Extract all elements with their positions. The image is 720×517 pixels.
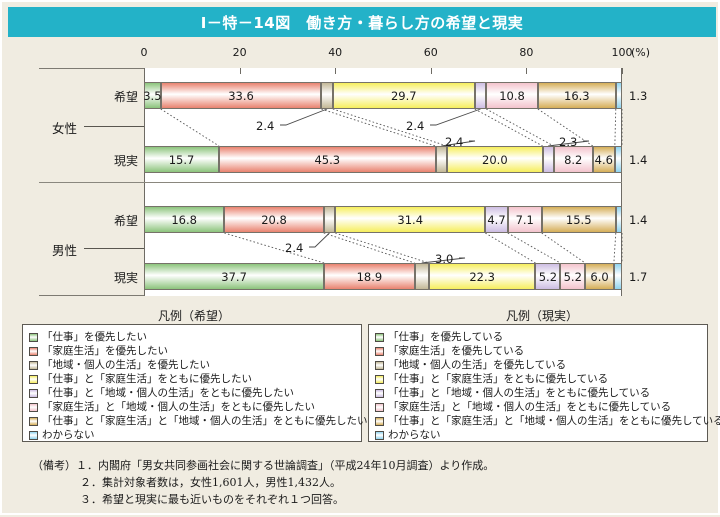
bar-group-label: 女性 <box>52 118 77 137</box>
legend-genjitsu-item[interactable]: わからない <box>375 429 701 443</box>
legend-swatch-icon <box>375 375 384 384</box>
bar-segment: 18.9 <box>324 263 414 290</box>
bar-segment-callout: 2.4 <box>285 241 303 255</box>
bar-segment: 6.0 <box>585 263 614 290</box>
bar-segment: 29.7 <box>333 82 475 109</box>
bar-segment: 4.6 <box>593 146 615 173</box>
legend-kibou-item[interactable]: わからない <box>29 429 355 443</box>
bar-segment: 16.3 <box>538 82 616 109</box>
x-axis-tick-label: 100 <box>612 46 633 59</box>
footnotes: （備考）１．内閣府「男女共同参画社会に関する世論調査」（平成24年10月調査）よ… <box>32 457 702 508</box>
legend-swatch-icon <box>29 347 38 356</box>
bar-segment: 10.8 <box>486 82 538 109</box>
bar-group-leader <box>84 248 144 249</box>
legend-swatch-icon <box>375 389 384 398</box>
legend-swatch-icon <box>375 403 384 412</box>
bar-segment: 33.6 <box>161 82 322 109</box>
legend-swatch-icon <box>29 431 38 440</box>
legend-kibou-label: 「家庭生活」を優先したい <box>42 346 168 357</box>
figure-title-bar: Ⅰ－特－14図 働き方・暮らし方の希望と現実 <box>8 7 716 37</box>
bar-segment-value: 15.5 <box>566 213 592 227</box>
footnote-line: ２．集計対象者数は，女性1,601人，男性1,432人。 <box>32 474 702 491</box>
bar-segment-value-outside: 1.4 <box>629 153 647 167</box>
x-axis-tick <box>526 68 527 74</box>
bar-segment: 22.3 <box>429 263 536 290</box>
legend-kibou-title: 凡例（希望） <box>39 307 349 324</box>
legend-swatch-icon <box>375 431 384 440</box>
legend-swatch-icon <box>375 417 384 426</box>
stacked-bar-row: 37.718.922.35.25.26.0 <box>144 263 622 290</box>
legend-genjitsu-label: わからない <box>388 430 441 441</box>
bar-segment-callout: 2.4 <box>406 119 424 133</box>
bar-segment-value: 15.7 <box>169 153 195 167</box>
legend-genjitsu-item[interactable]: 「仕事」と「地域・個人の生活」をともに優先している <box>375 386 701 400</box>
legend-kibou-item[interactable]: 「家庭生活」を優先したい <box>29 344 355 358</box>
bar-segment-value: 45.3 <box>314 153 340 167</box>
bar-row-label: 希望 <box>90 212 138 229</box>
bar-segment: 8.2 <box>554 146 593 173</box>
legend-kibou-label: 「地域・個人の生活」を優先したい <box>42 360 210 371</box>
x-axis-tick-label: 80 <box>519 46 533 59</box>
legend-swatch-icon <box>29 417 38 426</box>
legend-kibou-label: 「仕事」と「家庭生活」をともに優先したい <box>42 374 252 385</box>
x-axis-tick <box>622 68 623 74</box>
bar-segment: 15.7 <box>144 146 219 173</box>
bar-segment: 31.4 <box>335 206 485 233</box>
bar-segment-value: 5.2 <box>539 270 557 284</box>
bar-segment <box>415 263 429 290</box>
bar-segment: 20.0 <box>447 146 543 173</box>
bar-segment: 20.8 <box>224 206 323 233</box>
bar-segment <box>543 146 554 173</box>
x-axis-tick-label: 60 <box>424 46 438 59</box>
bar-segment <box>614 263 622 290</box>
bar-segment-value: 16.8 <box>171 213 197 227</box>
bar-segment <box>324 206 335 233</box>
legend-genjitsu-label: 「仕事」と「家庭生活」と「地域・個人の生活」をともに優先している <box>388 416 720 427</box>
legend-genjitsu-label: 「家庭生活」を優先している <box>388 346 524 357</box>
bar-segment <box>616 82 622 109</box>
bar-segment-value: 16.3 <box>564 89 590 103</box>
bar-segment-value: 7.1 <box>516 213 534 227</box>
bar-segment: 15.5 <box>542 206 616 233</box>
legend-kibou-item[interactable]: 「仕事」と「地域・個人の生活」をともに優先したい <box>29 386 355 400</box>
legend-kibou-item[interactable]: 「地域・個人の生活」を優先したい <box>29 358 355 372</box>
legend-genjitsu-label: 「地域・個人の生活」を優先している <box>388 360 566 371</box>
bar-segment <box>616 206 623 233</box>
bar-segment-value: 37.7 <box>221 270 247 284</box>
x-axis-tick <box>335 68 336 74</box>
x-axis-tick-label: 20 <box>233 46 247 59</box>
footnote-line: ３．希望と現実に最も近いものをそれぞれ１つ回答。 <box>32 491 702 508</box>
bar-row-label: 現実 <box>90 269 138 286</box>
legend-swatch-icon <box>375 333 384 342</box>
legend-genjitsu-label: 「仕事」を優先している <box>388 332 503 343</box>
legend-genjitsu-item[interactable]: 「家庭生活」を優先している <box>375 344 701 358</box>
stacked-bar-row: 16.820.831.44.77.115.5 <box>144 206 622 233</box>
bar-segment-value: 8.2 <box>564 153 582 167</box>
bar-segment: 5.2 <box>560 263 585 290</box>
x-axis-tick <box>240 68 241 74</box>
legend-kibou: 「仕事」を優先したい「家庭生活」を優先したい「地域・個人の生活」を優先したい「仕… <box>22 324 362 442</box>
bar-segment-value: 3.5 <box>143 89 161 103</box>
legend-swatch-icon <box>29 375 38 384</box>
bar-segment-value: 10.8 <box>499 89 525 103</box>
bar-segment-value-outside: 1.7 <box>629 270 647 284</box>
legend-swatch-icon <box>375 347 384 356</box>
legend-kibou-label: 「仕事」と「家庭生活」と「地域・個人の生活」をともに優先したい <box>42 416 368 427</box>
figure-page: Ⅰ－特－14図 働き方・暮らし方の希望と現実 020406080100(%) 2… <box>0 0 720 515</box>
footnote-line: （備考）１．内閣府「男女共同参画社会に関する世論調査」（平成24年10月調査）よ… <box>32 457 702 474</box>
bar-segment-value: 33.6 <box>228 89 254 103</box>
legend-kibou-item[interactable]: 「仕事」と「家庭生活」と「地域・個人の生活」をともに優先したい <box>29 415 355 429</box>
bar-segment <box>436 146 447 173</box>
bar-segment <box>615 146 622 173</box>
bar-segment <box>475 82 486 109</box>
bar-segment: 4.7 <box>485 206 507 233</box>
legend-kibou-item[interactable]: 「仕事」を優先したい <box>29 330 355 344</box>
bar-segment-value: 20.8 <box>261 213 287 227</box>
bar-segment-callout: 2.4 <box>256 119 274 133</box>
bar-segment-value: 4.7 <box>487 213 505 227</box>
bar-segment-value: 31.4 <box>397 213 423 227</box>
legend-swatch-icon <box>375 361 384 370</box>
bar-segment-value: 6.0 <box>590 270 608 284</box>
legend-kibou-label: 「仕事」を優先したい <box>42 332 147 343</box>
bar-segment-value: 18.9 <box>357 270 383 284</box>
x-axis: 020406080100(%) <box>2 46 720 68</box>
legend-genjitsu: 「仕事」を優先している「家庭生活」を優先している「地域・個人の生活」を優先してい… <box>368 324 708 442</box>
bar-segment: 3.5 <box>144 82 161 109</box>
stacked-bar-row: 15.745.320.08.24.6 <box>144 146 622 173</box>
legend-kibou-label: わからない <box>42 430 95 441</box>
x-axis-unit: (%) <box>631 46 650 59</box>
legend-genjitsu-item[interactable]: 「仕事」と「家庭生活」と「地域・個人の生活」をともに優先している <box>375 415 701 429</box>
legend-kibou-item[interactable]: 「家庭生活」と「地域・個人の生活」をともに優先したい <box>29 400 355 414</box>
legend-swatch-icon <box>29 403 38 412</box>
legend-genjitsu-item[interactable]: 「地域・個人の生活」を優先している <box>375 358 701 372</box>
group-divider <box>39 182 622 183</box>
page-title: Ⅰ－特－14図 働き方・暮らし方の希望と現実 <box>201 12 523 33</box>
bar-segment-value: 22.3 <box>469 270 495 284</box>
bar-segment: 7.1 <box>508 206 542 233</box>
legend-genjitsu-label: 「仕事」と「地域・個人の生活」をともに優先している <box>388 388 650 399</box>
bar-row-label: 希望 <box>90 88 138 105</box>
bar-segment-value: 5.2 <box>564 270 582 284</box>
bar-row-label: 現実 <box>90 152 138 169</box>
bar-segment <box>321 82 332 109</box>
x-axis-tick-label: 0 <box>141 46 148 59</box>
legend-kibou-label: 「仕事」と「地域・個人の生活」をともに優先したい <box>42 388 294 399</box>
x-axis-tick-label: 40 <box>328 46 342 59</box>
bar-segment-value: 29.7 <box>391 89 417 103</box>
legend-swatch-icon <box>29 389 38 398</box>
legend-genjitsu-title: 凡例（現実） <box>382 307 702 324</box>
legend-genjitsu-item[interactable]: 「家庭生活」と「地域・個人の生活」をともに優先している <box>375 400 701 414</box>
legend-genjitsu-label: 「家庭生活」と「地域・個人の生活」をともに優先している <box>388 402 671 413</box>
x-axis-tick <box>431 68 432 74</box>
bar-segment-value: 4.6 <box>595 153 613 167</box>
x-axis-tick <box>144 68 145 74</box>
legend-kibou-item[interactable]: 「仕事」と「家庭生活」をともに優先したい <box>29 372 355 386</box>
legend-genjitsu-item[interactable]: 「仕事」を優先している <box>375 330 701 344</box>
bar-segment-value: 20.0 <box>482 153 508 167</box>
stacked-bar-row: 3.533.629.710.816.3 <box>144 82 622 109</box>
legend-swatch-icon <box>29 333 38 342</box>
legend-genjitsu-label: 「仕事」と「家庭生活」をともに優先している <box>388 374 608 385</box>
bar-segment: 16.8 <box>144 206 224 233</box>
bar-segment-value-outside: 1.4 <box>629 213 647 227</box>
bar-segment: 37.7 <box>144 263 324 290</box>
legend-genjitsu-item[interactable]: 「仕事」と「家庭生活」をともに優先している <box>375 372 701 386</box>
legend-kibou-label: 「家庭生活」と「地域・個人の生活」をともに優先したい <box>42 402 315 413</box>
bar-group-leader <box>84 126 144 127</box>
bar-segment-value-outside: 1.3 <box>629 89 647 103</box>
bar-segment: 5.2 <box>535 263 560 290</box>
bar-segment: 45.3 <box>219 146 436 173</box>
bar-group-label: 男性 <box>52 240 77 259</box>
legend-swatch-icon <box>29 361 38 370</box>
